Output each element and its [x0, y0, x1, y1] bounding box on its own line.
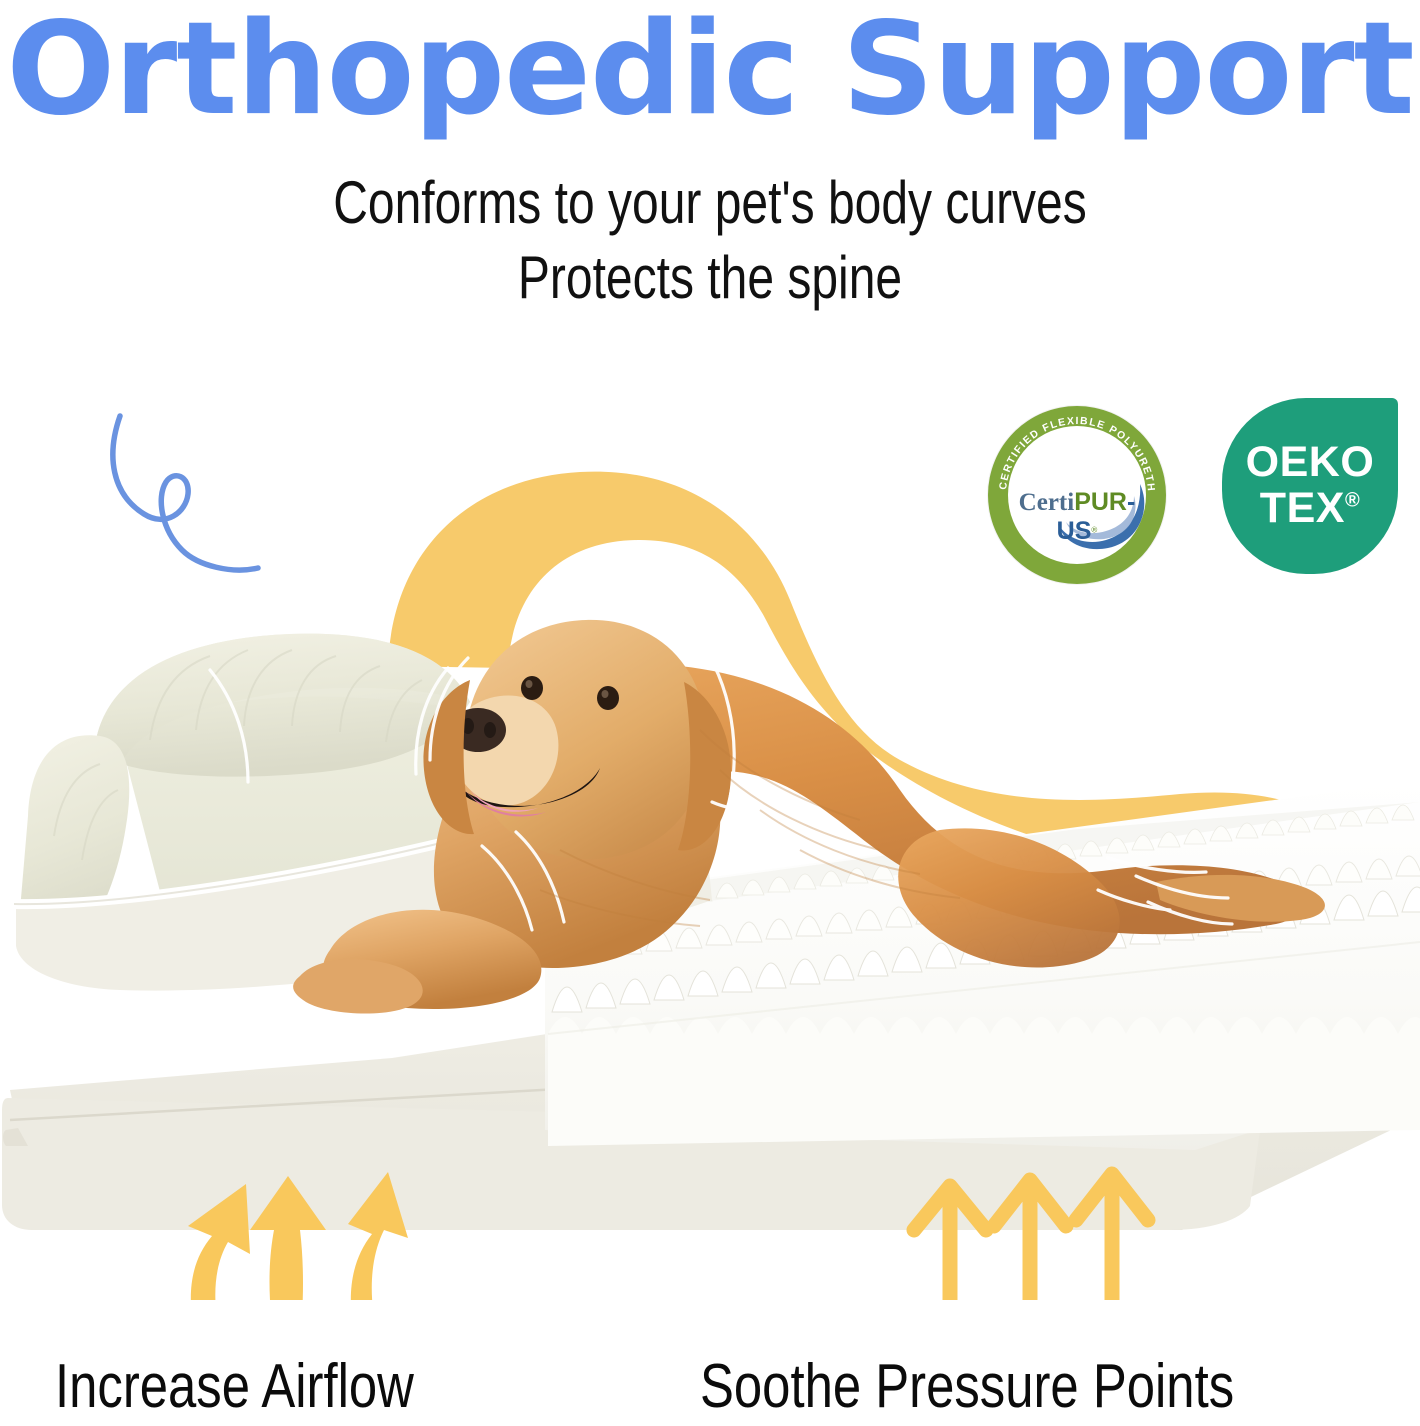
subtitle-line-1: Conforms to your pet's body curves [142, 168, 1278, 239]
certipur-word-pur: PUR [1074, 488, 1127, 516]
page-title: Orthopedic Support [0, 0, 1420, 141]
certipur-registered-mark: ® [1091, 526, 1097, 535]
callout-label-soothe-pressure-points: Soothe Pressure Points [700, 1356, 1234, 1418]
callout-label-increase-airflow: Increase Airflow [55, 1356, 414, 1418]
dog-on-orthopedic-bed-photo [0, 430, 1420, 1300]
certipur-word-certi: Certi [1019, 489, 1075, 516]
pressure-arrows [914, 1174, 1148, 1300]
certipur-wordmark: CertiPUR-US® [1008, 488, 1146, 546]
product-infographic: Orthopedic Support Conforms to your pet'… [0, 0, 1420, 1426]
subtitle-line-2: Protects the spine [142, 243, 1278, 314]
